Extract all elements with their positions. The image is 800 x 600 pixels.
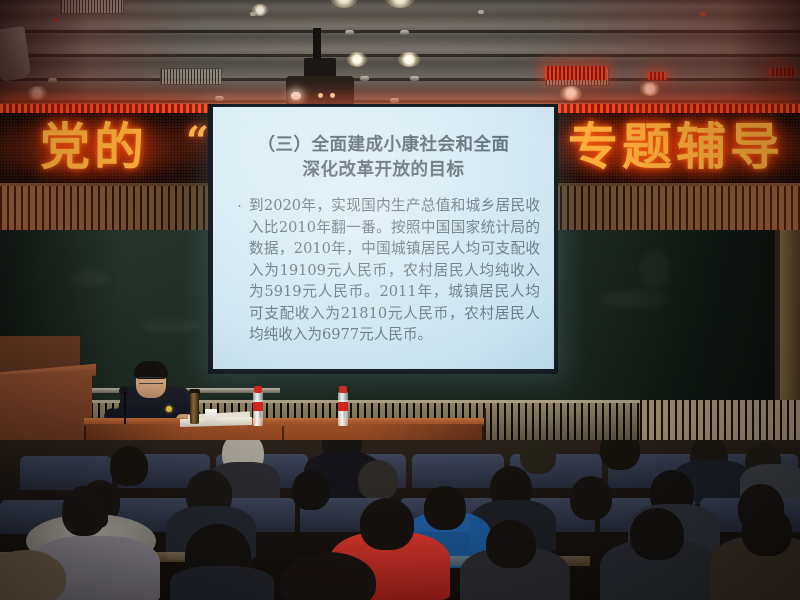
list-item bbox=[630, 508, 684, 560]
list-item bbox=[92, 498, 108, 528]
projection-screen: （三）全面建成小康社会和全面 深化改革开放的目标 · 到2020年，实现国内生产… bbox=[213, 107, 554, 369]
led-banner-text-left: 党的 bbox=[40, 117, 148, 177]
ceiling bbox=[0, 0, 800, 108]
lecture-hall-photo: 党的 “ 专题辅导 （三）全面建成小康社会和全面 深化改革开放的目标 · 到20… bbox=[0, 0, 800, 600]
projector-mount-rod bbox=[313, 28, 321, 62]
list-item bbox=[292, 470, 330, 510]
projector-status-led bbox=[318, 93, 323, 98]
projector-status-led-2 bbox=[330, 93, 335, 98]
presenter-lapel-badge bbox=[166, 406, 172, 412]
audience-seating bbox=[0, 440, 800, 600]
projector-lens bbox=[291, 92, 301, 100]
paper-cup bbox=[205, 409, 217, 424]
led-banner-text-right: 专题辅导 bbox=[568, 117, 784, 177]
list-item bbox=[360, 498, 414, 550]
chalkboard-right-frame bbox=[780, 230, 800, 400]
list-item bbox=[520, 440, 556, 474]
list-item bbox=[486, 520, 536, 568]
presenter-glasses bbox=[139, 377, 163, 384]
list-item bbox=[358, 460, 398, 500]
screen-vignette bbox=[213, 107, 554, 369]
list-item bbox=[742, 506, 792, 556]
led-banner-quote-mark: “ bbox=[186, 118, 209, 165]
list-item bbox=[424, 486, 466, 530]
list-item bbox=[570, 476, 612, 520]
thermos-flask bbox=[190, 393, 199, 424]
list-item bbox=[600, 440, 640, 470]
list-item bbox=[110, 446, 148, 486]
microphone-stand bbox=[124, 392, 126, 424]
